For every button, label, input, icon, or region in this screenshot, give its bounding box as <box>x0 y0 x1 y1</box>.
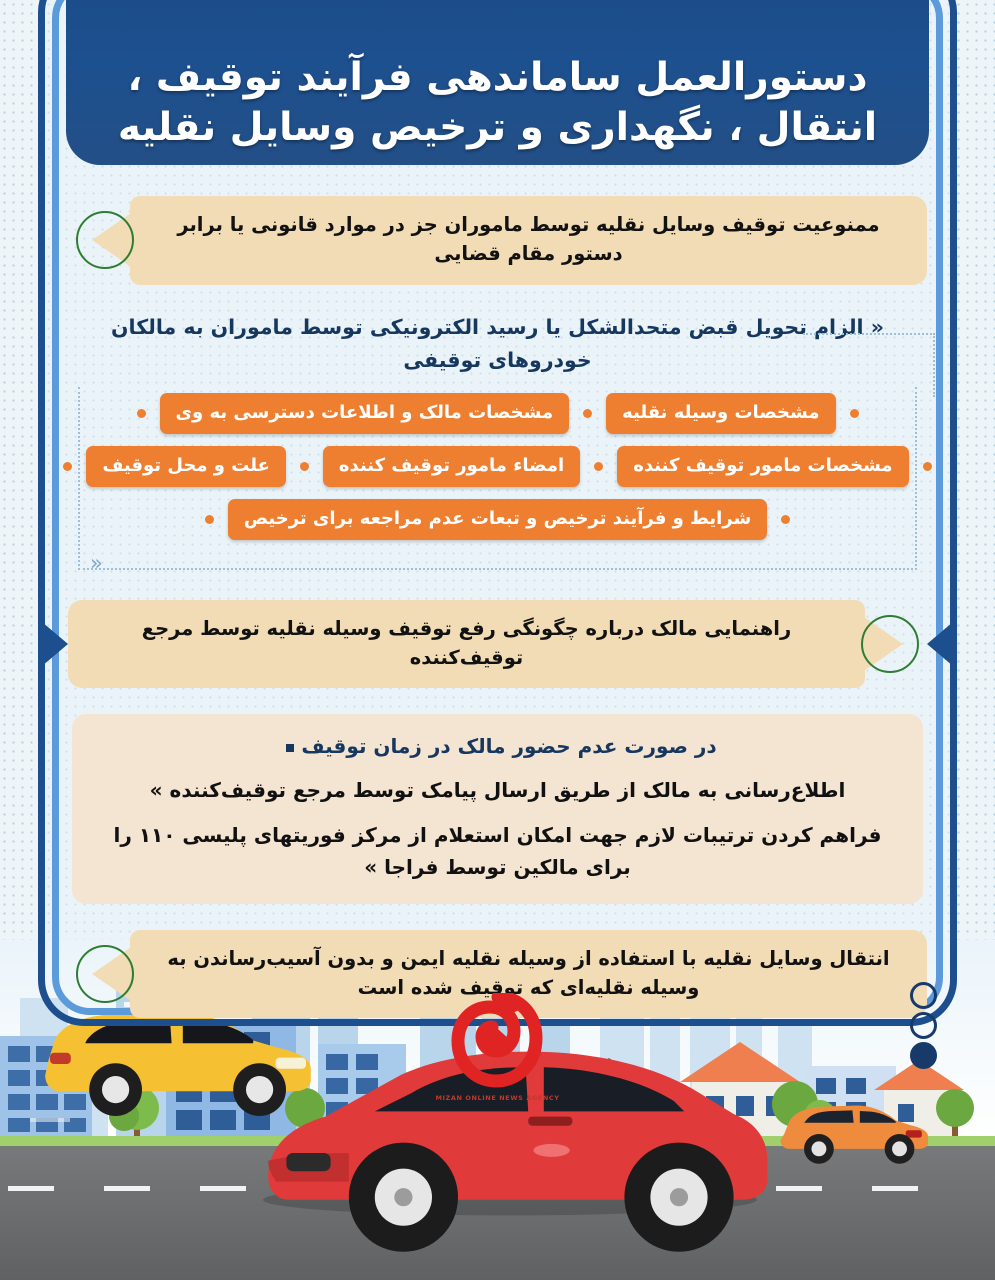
chip-item: علت و محل توقیف <box>86 446 285 487</box>
page-title-line2: انتقال ، نگهداری و ترخیص وسایل نقلیه <box>118 105 877 150</box>
chip-dot-icon <box>137 409 146 418</box>
chip-dot-icon <box>923 462 932 471</box>
statement-band-1-text: ممنوعیت توقیف وسایل نقلیه توسط ماموران ج… <box>130 196 927 285</box>
chip-item: مشخصات مالک و اطلاعات دسترسی به وی <box>160 393 570 434</box>
chip-row-1: مشخصات وسیله نقلیه مشخصات مالک و اطلاعات… <box>90 393 905 434</box>
owner-absent-item-text: اطلاع‌رسانی به مالک از طریق ارسال پیامک … <box>170 778 846 802</box>
chip-dot-icon <box>594 462 603 471</box>
chip-dot-icon <box>205 515 214 524</box>
content-area: ممنوعیت توقیف وسایل نقلیه توسط ماموران ج… <box>60 196 935 1018</box>
owner-absent-title-text: در صورت عدم حضور مالک در زمان توقیف <box>301 734 716 758</box>
heading-1-body: الزام تحویل قبض متحدالشکل یا رسید الکترو… <box>111 315 864 372</box>
heading-1-text: « الزام تحویل قبض متحدالشکل یا رسید الکت… <box>60 311 935 377</box>
page-title-line1: دستورالعمل ساماندهی فرآیند توقیف ، <box>127 55 867 100</box>
green-ring-icon <box>861 615 919 673</box>
header-banner: دستورالعمل ساماندهی فرآیند توقیف ، انتقا… <box>66 0 929 165</box>
owner-absent-item-text: فراهم کردن ترتیبات لازم جهت امکان استعلا… <box>114 823 882 879</box>
chip-dot-icon <box>850 409 859 418</box>
green-ring-icon <box>76 945 134 1003</box>
heading-1-guillemet: « <box>871 315 884 339</box>
statement-band-1: ممنوعیت توقیف وسایل نقلیه توسط ماموران ج… <box>68 196 927 285</box>
chip-dot-icon <box>63 462 72 471</box>
chip-item: مشخصات وسیله نقلیه <box>606 393 835 434</box>
mizan-logo-mark <box>444 993 552 1089</box>
owner-absent-title: در صورت عدم حضور مالک در زمان توقیف <box>102 730 893 762</box>
chevron-left-icon <box>42 622 68 666</box>
chip-item: شرایط و فرآیند ترخیص و تبعات عدم مراجعه … <box>228 499 767 540</box>
chip-item: مشخصات مامور توقیف کننده <box>617 446 908 487</box>
mizan-logo-english: MIZAN ONLINE NEWS AGENCY <box>423 1094 573 1102</box>
traffic-light-dots <box>910 982 937 1072</box>
heading-block-1: « الزام تحویل قبض متحدالشکل یا رسید الکت… <box>60 311 935 377</box>
guillemet-bullet-icon: » <box>150 778 163 802</box>
mizan-logo: MIZAN ONLINE NEWS AGENCY <box>423 993 573 1102</box>
chip-zone: « مشخصات وسیله نقلیه مشخصات مالک و اطلاع… <box>78 387 917 570</box>
infographic-page: MIZAN ONLINE NEWS AGENCY دستورالعمل ساما… <box>0 0 995 1280</box>
chevron-right-icon <box>927 622 953 666</box>
traffic-dot-3 <box>910 1042 937 1069</box>
square-bullet-icon <box>286 744 294 752</box>
chip-dot-icon <box>781 515 790 524</box>
guillemet-bullet-icon: » <box>364 855 377 879</box>
dotted-connector-horizontal <box>803 333 935 335</box>
chip-dot-icon <box>583 409 592 418</box>
chip-row-3: شرایط و فرآیند ترخیص و تبعات عدم مراجعه … <box>90 499 905 540</box>
green-ring-icon <box>76 211 134 269</box>
chip-row-2: مشخصات مامور توقیف کننده امضاء مامور توق… <box>90 446 905 487</box>
chip-item: امضاء مامور توقیف کننده <box>323 446 580 487</box>
chevron-up-icon: « <box>90 553 103 574</box>
statement-band-2-text: راهنمایی مالک درباره چگونگی رفع توقیف وس… <box>68 600 865 689</box>
chip-dot-icon <box>300 462 309 471</box>
owner-absent-item: اطلاع‌رسانی به مالک از طریق ارسال پیامک … <box>102 774 893 806</box>
traffic-dot-1 <box>910 982 937 1009</box>
statement-band-2: راهنمایی مالک درباره چگونگی رفع توقیف وس… <box>68 600 927 689</box>
owner-absent-block: در صورت عدم حضور مالک در زمان توقیف اطلا… <box>72 714 923 903</box>
dotted-connector-vertical <box>933 333 935 397</box>
traffic-dot-2 <box>910 1012 937 1039</box>
owner-absent-item: فراهم کردن ترتیبات لازم جهت امکان استعلا… <box>102 819 893 884</box>
page-title: دستورالعمل ساماندهی فرآیند توقیف ، انتقا… <box>92 53 903 153</box>
